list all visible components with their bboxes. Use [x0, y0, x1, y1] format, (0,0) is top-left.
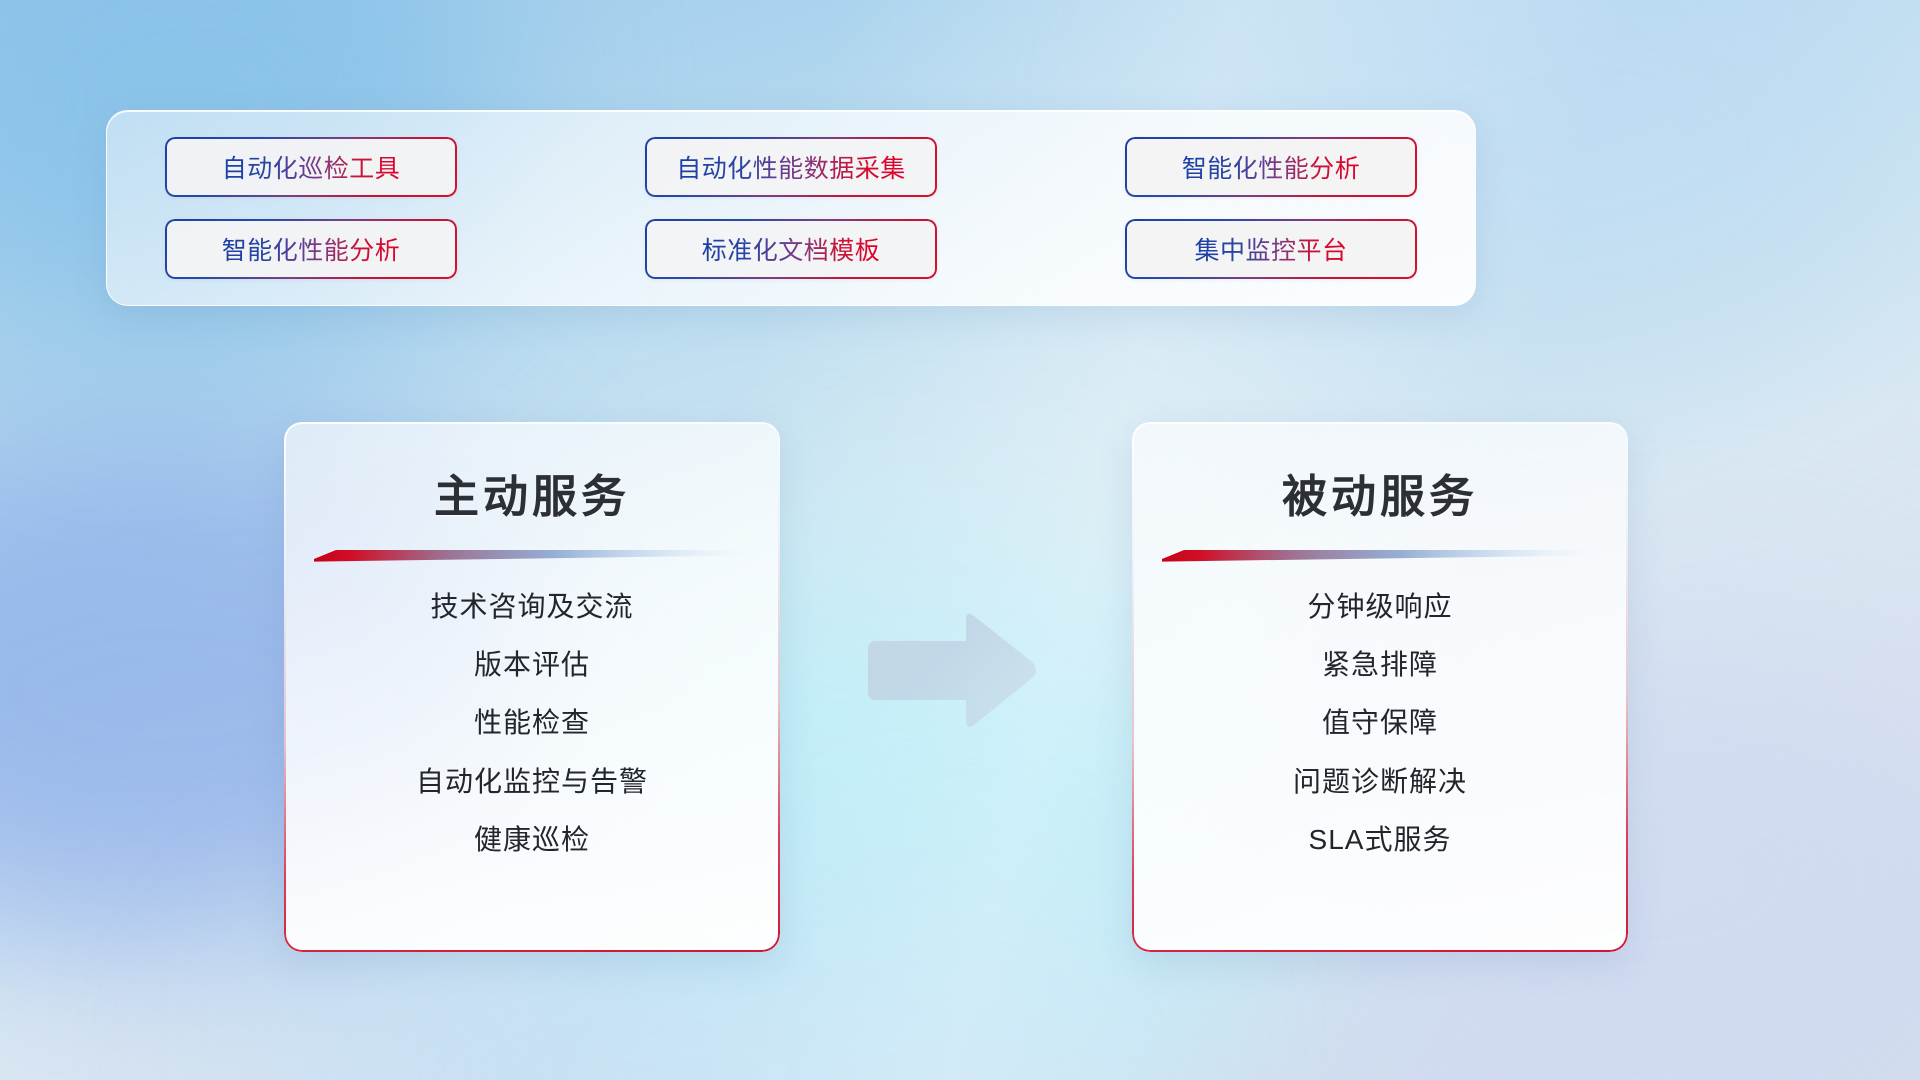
- tag-centralized-monitor-platform[interactable]: 集中监控平台: [1125, 219, 1417, 279]
- slide-canvas: 自动化巡检工具 自动化性能数据采集 智能化性能分析 智能化性能分析 标准化文档模…: [0, 0, 1920, 1080]
- reactive-service-list: 分钟级响应 紧急排障 值守保障 问题诊断解决 SLA式服务: [1132, 591, 1628, 856]
- card-divider: [284, 547, 780, 565]
- tag-automated-perf-collection[interactable]: 自动化性能数据采集: [645, 137, 937, 197]
- tag-intelligent-perf-analysis-top[interactable]: 智能化性能分析: [1125, 137, 1417, 197]
- proactive-service-card[interactable]: 主动服务 技术咨询及交流 版本评估 性能检查: [284, 422, 780, 952]
- list-item: 分钟级响应: [1307, 591, 1452, 623]
- card-divider: [1132, 547, 1628, 565]
- list-item: 版本评估: [474, 649, 590, 681]
- card-title: 被动服务: [1132, 460, 1628, 525]
- list-item: 自动化监控与告警: [416, 766, 648, 798]
- list-item: 值守保障: [1322, 707, 1438, 739]
- tag-standard-doc-template[interactable]: 标准化文档模板: [645, 219, 937, 279]
- reactive-service-card[interactable]: 被动服务 分钟级响应 紧急排障 值守保障: [1132, 422, 1628, 952]
- proactive-service-list: 技术咨询及交流 版本评估 性能检查 自动化监控与告警 健康巡检: [284, 591, 780, 856]
- tag-label: 智能化性能分析: [1182, 149, 1361, 185]
- capability-tag-panel: 自动化巡检工具 自动化性能数据采集 智能化性能分析 智能化性能分析 标准化文档模…: [106, 110, 1476, 306]
- list-item: SLA式服务: [1309, 824, 1452, 856]
- capability-tag-row-1: 自动化巡检工具 自动化性能数据采集 智能化性能分析: [165, 137, 1417, 197]
- tag-automated-inspection-tool[interactable]: 自动化巡检工具: [165, 137, 457, 197]
- list-item: 性能检查: [474, 707, 590, 739]
- tag-label: 标准化文档模板: [702, 231, 881, 267]
- tapered-divider-icon: [314, 547, 750, 565]
- tag-intelligent-perf-analysis[interactable]: 智能化性能分析: [165, 219, 457, 279]
- list-item: 健康巡检: [474, 824, 590, 856]
- card-title: 主动服务: [284, 460, 780, 525]
- capability-tag-row-2: 智能化性能分析 标准化文档模板 集中监控平台: [165, 219, 1417, 279]
- tag-label: 自动化巡检工具: [222, 149, 401, 185]
- tapered-divider-icon: [1162, 547, 1598, 565]
- tag-label: 智能化性能分析: [222, 231, 401, 267]
- list-item: 紧急排障: [1322, 649, 1438, 681]
- right-arrow-icon: [862, 608, 1040, 733]
- list-item: 技术咨询及交流: [430, 591, 633, 623]
- tag-label: 自动化性能数据采集: [676, 149, 906, 185]
- list-item: 问题诊断解决: [1293, 766, 1467, 798]
- tag-label: 集中监控平台: [1194, 231, 1347, 267]
